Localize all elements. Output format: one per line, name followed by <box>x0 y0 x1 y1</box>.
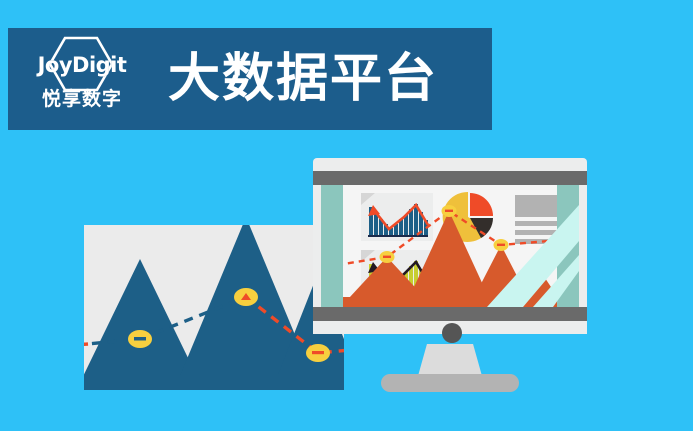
monitor <box>313 158 587 390</box>
brand-logo: JoyDigit 悦享数字 <box>22 34 142 124</box>
monitor-bottom-bar <box>313 307 587 321</box>
mountain-chart-svg <box>84 225 344 390</box>
monitor-stand <box>418 344 482 376</box>
screen-accent-left <box>321 185 343 307</box>
monitor-base <box>381 374 519 392</box>
mountain-chart-orange-svg <box>343 185 557 307</box>
poster-canvas: JoyDigit 悦享数字 大数据平台 <box>0 0 693 431</box>
monitor-top-bar <box>313 171 587 185</box>
logo-subtitle: 悦享数字 <box>42 90 122 109</box>
trend-line-red-stub <box>84 344 88 345</box>
left-chart-panel <box>84 225 344 390</box>
monitor-power-indicator <box>442 323 462 343</box>
logo-wordmark: JoyDigit <box>38 55 127 76</box>
banner-title: 大数据平台 <box>168 53 438 105</box>
screen-accent-right <box>557 185 579 307</box>
dashboard-canvas <box>343 185 557 307</box>
monitor-screen <box>321 185 579 307</box>
header-banner: JoyDigit 悦享数字 大数据平台 <box>8 28 492 130</box>
mountain-shapes <box>84 225 344 390</box>
